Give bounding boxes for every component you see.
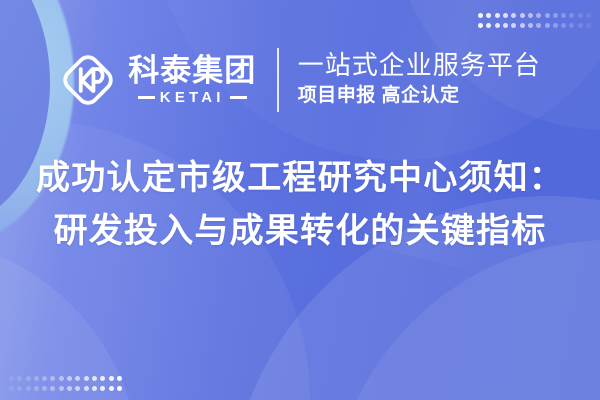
dot: [511, 13, 516, 18]
dot: [50, 376, 55, 381]
dot: [9, 376, 14, 381]
wordmark-rule-left: [138, 96, 155, 99]
dot: [511, 23, 516, 28]
dot: [495, 13, 500, 18]
dot: [536, 23, 541, 28]
dot: [67, 386, 72, 391]
headline-block: 成功认定市级工程研究中心须知： 研发投入与成果转化的关键指标: [0, 152, 600, 258]
dot: [109, 386, 114, 391]
dot: [561, 23, 566, 28]
dot: [520, 13, 525, 18]
dot: [586, 23, 591, 28]
dot: [92, 386, 97, 391]
dot: [545, 13, 550, 18]
dot: [586, 13, 591, 18]
banner-header: 科泰集团 KETAI 一站式企业服务平台 项目申报 高企认定: [0, 44, 600, 116]
dot: [75, 376, 80, 381]
dot: [117, 386, 122, 391]
dot-row: [478, 13, 591, 18]
dot: [50, 386, 55, 391]
dot: [578, 23, 583, 28]
dot: [520, 23, 525, 28]
dot: [528, 23, 533, 28]
dot: [578, 13, 583, 18]
dot: [109, 376, 114, 381]
dot: [59, 386, 64, 391]
dot: [17, 376, 22, 381]
dot-grid-top-right: [478, 13, 591, 28]
dot: [545, 23, 550, 28]
dot: [34, 386, 39, 391]
dot-row: [9, 386, 122, 391]
brand-name-en: KETAI: [160, 90, 225, 105]
dot: [34, 376, 39, 381]
dot-row: [478, 23, 591, 28]
dot: [528, 13, 533, 18]
dot: [67, 376, 72, 381]
tagline-sub: 项目申报 高企认定: [298, 84, 541, 109]
dot: [486, 23, 491, 28]
dot: [42, 386, 47, 391]
tagline-block: 一站式企业服务平台 项目申报 高企认定: [298, 51, 541, 109]
brand-name-cn: 科泰集团: [128, 55, 256, 87]
dot-row: [9, 376, 122, 381]
dot: [100, 386, 105, 391]
dot: [26, 386, 31, 391]
dot: [495, 23, 500, 28]
ketai-diamond-logo-icon: [59, 51, 117, 109]
brand-name-en-row: KETAI: [138, 90, 247, 105]
dot: [17, 386, 22, 391]
dot: [117, 376, 122, 381]
dot: [478, 13, 483, 18]
brand-lockup: 科泰集团 KETAI: [59, 51, 256, 109]
dot: [553, 23, 558, 28]
dot: [84, 386, 89, 391]
dot-grid-bottom-left: [9, 376, 122, 391]
bg-blob-bottom-right-small: [330, 240, 600, 400]
dot: [42, 376, 47, 381]
wordmark-rule-right: [230, 96, 247, 99]
tagline-main: 一站式企业服务平台: [298, 51, 541, 81]
dot: [92, 376, 97, 381]
dot: [553, 13, 558, 18]
dot: [503, 13, 508, 18]
dot: [486, 13, 491, 18]
dot: [59, 376, 64, 381]
dot: [569, 23, 574, 28]
header-divider: [277, 48, 279, 112]
promo-banner: 科泰集团 KETAI 一站式企业服务平台 项目申报 高企认定 成功认定市级工程研…: [0, 0, 600, 400]
dot: [561, 13, 566, 18]
brand-wordmark: 科泰集团 KETAI: [128, 55, 256, 104]
dot: [9, 386, 14, 391]
dot: [536, 13, 541, 18]
headline-line-1: 成功认定市级工程研究中心须知：: [36, 152, 564, 205]
dot: [569, 13, 574, 18]
dot: [503, 23, 508, 28]
dot: [100, 376, 105, 381]
dot: [75, 386, 80, 391]
dot: [478, 23, 483, 28]
dot: [26, 376, 31, 381]
dot: [84, 376, 89, 381]
headline-line-2: 研发投入与成果转化的关键指标: [54, 205, 547, 258]
